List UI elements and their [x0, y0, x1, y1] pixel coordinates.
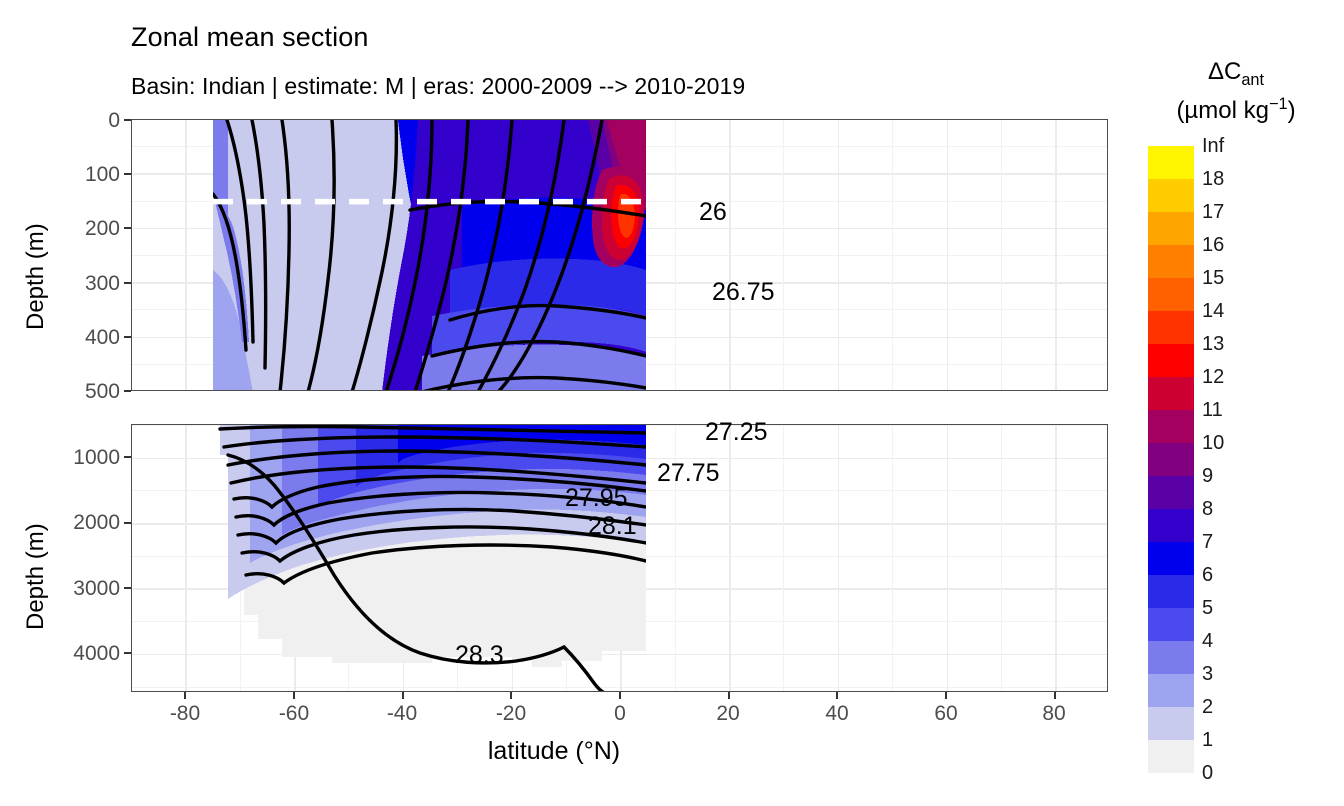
colorbar-band-15-16 [1148, 245, 1194, 278]
colorbar-label-2: 2 [1202, 696, 1213, 719]
xtick-40: 40 [797, 702, 877, 726]
ytick-upper-500: 500 [28, 380, 120, 404]
lower-depth-panel [131, 424, 1108, 692]
colorbar-band-1-2 [1148, 707, 1194, 740]
colorbar-band-3-4 [1148, 641, 1194, 674]
upper-panel-contour-field [132, 120, 1108, 391]
colorbar-label-4: 4 [1202, 630, 1213, 653]
colorbar-label-6: 6 [1202, 564, 1213, 587]
xtick-80: 80 [1014, 702, 1094, 726]
upper-depth-panel [131, 119, 1108, 391]
colorbar-label-7: 7 [1202, 531, 1213, 554]
colorbar-label-14: 14 [1202, 300, 1224, 323]
colorbar-label-Inf: Inf [1202, 135, 1224, 158]
colorbar-label-0: 0 [1202, 762, 1213, 785]
xtick--60: -60 [254, 702, 334, 726]
y-axis-title-upper: Depth (m) [22, 223, 50, 330]
colorbar-band-8-9 [1148, 476, 1194, 509]
colorbar-band-13-14 [1148, 311, 1194, 344]
colorbar-band-14-15 [1148, 278, 1194, 311]
legend-title-units: (µmol kg−1) [1128, 95, 1344, 125]
colorbar-band-0-1 [1148, 740, 1194, 773]
page-title: Zonal mean section [131, 22, 368, 53]
contour-label-27-25: 27.25 [705, 418, 768, 447]
xtick-0: 0 [580, 702, 660, 726]
contour-label-28-3: 28.3 [455, 641, 504, 670]
xtick--80: -80 [145, 702, 225, 726]
colorbar-band-6-7 [1148, 542, 1194, 575]
colorbar-label-18: 18 [1202, 168, 1224, 191]
y-axis-title-lower: Depth (m) [22, 523, 50, 630]
ytick-upper-100: 100 [28, 163, 120, 187]
ytick-lower-4000: 4000 [28, 642, 120, 666]
lower-panel-contour-field [132, 425, 1108, 692]
colorbar-label-17: 17 [1202, 201, 1224, 224]
colorbar-band-5-6 [1148, 575, 1194, 608]
x-axis-title: latitude (°N) [0, 737, 1108, 766]
colorbar-label-3: 3 [1202, 663, 1213, 686]
colorbar-label-9: 9 [1202, 465, 1213, 488]
colorbar-band-11-12 [1148, 377, 1194, 410]
colorbar-band-7-8 [1148, 509, 1194, 542]
colorbar-gradient [1148, 146, 1194, 773]
xtick--20: -20 [471, 702, 551, 726]
colorbar-band-4-5 [1148, 608, 1194, 641]
colorbar-label-12: 12 [1202, 366, 1224, 389]
colorbar-label-10: 10 [1202, 432, 1224, 455]
colorbar-label-5: 5 [1202, 597, 1213, 620]
colorbar-label-1: 1 [1202, 729, 1213, 752]
contour-label-26-75: 26.75 [712, 278, 775, 307]
colorbar-band-9-10 [1148, 443, 1194, 476]
plot-subtitle: Basin: Indian | estimate: M | eras: 2000… [131, 73, 745, 100]
contour-label-27-75: 27.75 [657, 459, 720, 488]
legend-title-delta-cant: ΔCant [1128, 58, 1344, 90]
colorbar-label-16: 16 [1202, 234, 1224, 257]
colorbar-label-15: 15 [1202, 267, 1224, 290]
contour-label-26: 26 [699, 198, 727, 227]
colorbar-band-18-Inf [1148, 146, 1194, 179]
colorbar-band-2-3 [1148, 674, 1194, 707]
colorbar-band-12-13 [1148, 344, 1194, 377]
colorbar-band-10-11 [1148, 410, 1194, 443]
contour-label-27-95: 27.95 [565, 484, 628, 513]
xtick--40: -40 [362, 702, 442, 726]
colorbar-band-16-17 [1148, 212, 1194, 245]
contour-label-28-1: 28.1 [588, 512, 637, 541]
colorbar-band-17-18 [1148, 179, 1194, 212]
xtick-20: 20 [688, 702, 768, 726]
colorbar-label-8: 8 [1202, 498, 1213, 521]
ytick-upper-0: 0 [28, 109, 120, 133]
colorbar-label-11: 11 [1202, 399, 1223, 422]
colorbar-label-13: 13 [1202, 333, 1224, 356]
xtick-60: 60 [906, 702, 986, 726]
colorbar-legend: ΔCant (µmol kg−1) Inf1817161514131211109… [1128, 50, 1344, 770]
ytick-lower-1000: 1000 [28, 446, 120, 470]
